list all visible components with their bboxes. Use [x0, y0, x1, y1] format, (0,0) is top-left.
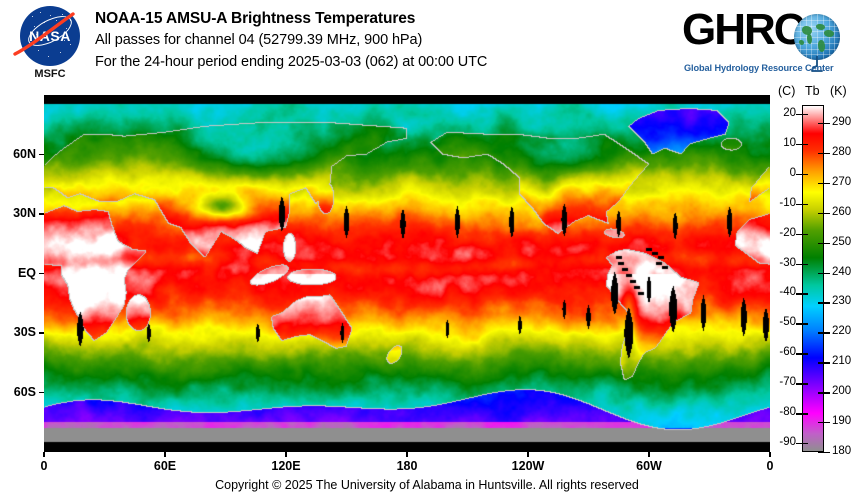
colorbar-celsius-unit: (C) [778, 84, 795, 98]
colorbar-tick-celsius [796, 413, 808, 414]
colorbar-gradient [803, 106, 823, 451]
colorbar[interactable] [802, 105, 824, 452]
y-axis-label: 60S [0, 385, 36, 399]
x-axis-tick [648, 452, 649, 457]
colorbar-tick-kelvin [818, 123, 830, 124]
colorbar-tick-kelvin [818, 273, 830, 274]
colorbar-label-celsius: -50 [758, 316, 796, 328]
globe-icon [794, 14, 840, 60]
x-axis-tick [769, 452, 770, 457]
colorbar-tick-celsius [796, 264, 808, 265]
colorbar-label-celsius: -20 [758, 227, 796, 239]
colorbar-tick-kelvin [818, 213, 830, 214]
colorbar-tick-celsius [796, 174, 808, 175]
x-axis-label: 0 [740, 459, 800, 473]
colorbar-kelvin-unit: (K) [830, 84, 847, 98]
colorbar-tick-celsius [796, 323, 808, 324]
colorbar-label-kelvin: 210 [832, 355, 851, 367]
colorbar-label-celsius: -40 [758, 286, 796, 298]
map-raster [44, 95, 770, 452]
colorbar-tick-kelvin [818, 422, 830, 423]
y-axis-tick [39, 154, 44, 155]
colorbar-tick-celsius [796, 353, 808, 354]
y-axis-label: 30N [0, 206, 36, 220]
ghrc-wordmark: GHRC [682, 8, 804, 52]
page-title: NOAA-15 AMSU-A Brightness Temperatures [95, 8, 695, 29]
x-axis-tick [406, 452, 407, 457]
colorbar-tick-kelvin [818, 452, 830, 453]
y-axis-label: EQ [0, 266, 36, 280]
copyright-notice: Copyright © 2025 The University of Alaba… [0, 478, 854, 492]
colorbar-tick-kelvin [818, 332, 830, 333]
colorbar-label-kelvin: 250 [832, 236, 851, 248]
nasa-center-label: MSFC [14, 68, 86, 80]
colorbar-label-kelvin: 260 [832, 206, 851, 218]
x-axis-label: 120E [256, 459, 316, 473]
x-axis-label: 60W [619, 459, 679, 473]
colorbar-label-kelvin: 270 [832, 176, 851, 188]
x-axis-tick [285, 452, 286, 457]
x-axis-tick [164, 452, 165, 457]
colorbar-label-celsius: 20 [758, 107, 796, 119]
y-axis-tick [39, 392, 44, 393]
colorbar-label-celsius: 10 [758, 137, 796, 149]
x-axis-tick [43, 452, 44, 457]
colorbar-tick-kelvin [818, 183, 830, 184]
colorbar-tick-celsius [796, 204, 808, 205]
title-block: NOAA-15 AMSU-A Brightness Temperatures A… [95, 8, 695, 73]
y-axis-label: 60N [0, 147, 36, 161]
ghrc-tagline: Global Hydrology Resource Center [684, 63, 833, 73]
colorbar-tick-celsius [796, 114, 808, 115]
y-axis-tick [39, 273, 44, 274]
colorbar-label-kelvin: 200 [832, 385, 851, 397]
colorbar-label-celsius: -80 [758, 406, 796, 418]
colorbar-label-celsius: -70 [758, 376, 796, 388]
colorbar-label-celsius: -60 [758, 346, 796, 358]
x-axis-tick [527, 452, 528, 457]
colorbar-tick-kelvin [818, 392, 830, 393]
colorbar-tick-celsius [796, 443, 808, 444]
nasa-swoosh-icon [13, 12, 77, 60]
colorbar-label-kelvin: 240 [832, 266, 851, 278]
nasa-logo: NASA MSFC [14, 6, 84, 88]
brightness-temperature-map[interactable] [44, 95, 770, 452]
x-axis-label: 0 [14, 459, 74, 473]
colorbar-label-kelvin: 190 [832, 415, 851, 427]
period-subtitle: For the 24-hour period ending 2025-03-03… [95, 51, 695, 73]
y-axis-tick [39, 332, 44, 333]
colorbar-label-celsius: -90 [758, 436, 796, 448]
x-axis-label: 60E [135, 459, 195, 473]
colorbar-label-kelvin: 180 [832, 445, 851, 457]
channel-subtitle: All passes for channel 04 (52799.39 MHz,… [95, 29, 695, 51]
y-axis-label: 30S [0, 325, 36, 339]
colorbar-label-kelvin: 280 [832, 146, 851, 158]
x-axis-label: 180 [377, 459, 437, 473]
colorbar-label-kelvin: 290 [832, 116, 851, 128]
colorbar-label-kelvin: 230 [832, 295, 851, 307]
colorbar-label-kelvin: 220 [832, 325, 851, 337]
ghrc-logo: GHRC Global Hydrology Resource Center [682, 6, 848, 84]
colorbar-label-celsius: 0 [758, 167, 796, 179]
colorbar-label-celsius: -30 [758, 257, 796, 269]
colorbar-tick-celsius [796, 293, 808, 294]
colorbar-tick-kelvin [818, 243, 830, 244]
colorbar-variable-label: Tb [805, 84, 820, 98]
colorbar-tick-kelvin [818, 153, 830, 154]
colorbar-tick-celsius [796, 383, 808, 384]
y-axis-tick [39, 213, 44, 214]
x-axis-label: 120W [498, 459, 558, 473]
colorbar-tick-kelvin [818, 302, 830, 303]
colorbar-tick-kelvin [818, 362, 830, 363]
colorbar-tick-celsius [796, 234, 808, 235]
colorbar-label-celsius: -10 [758, 197, 796, 209]
colorbar-tick-celsius [796, 144, 808, 145]
